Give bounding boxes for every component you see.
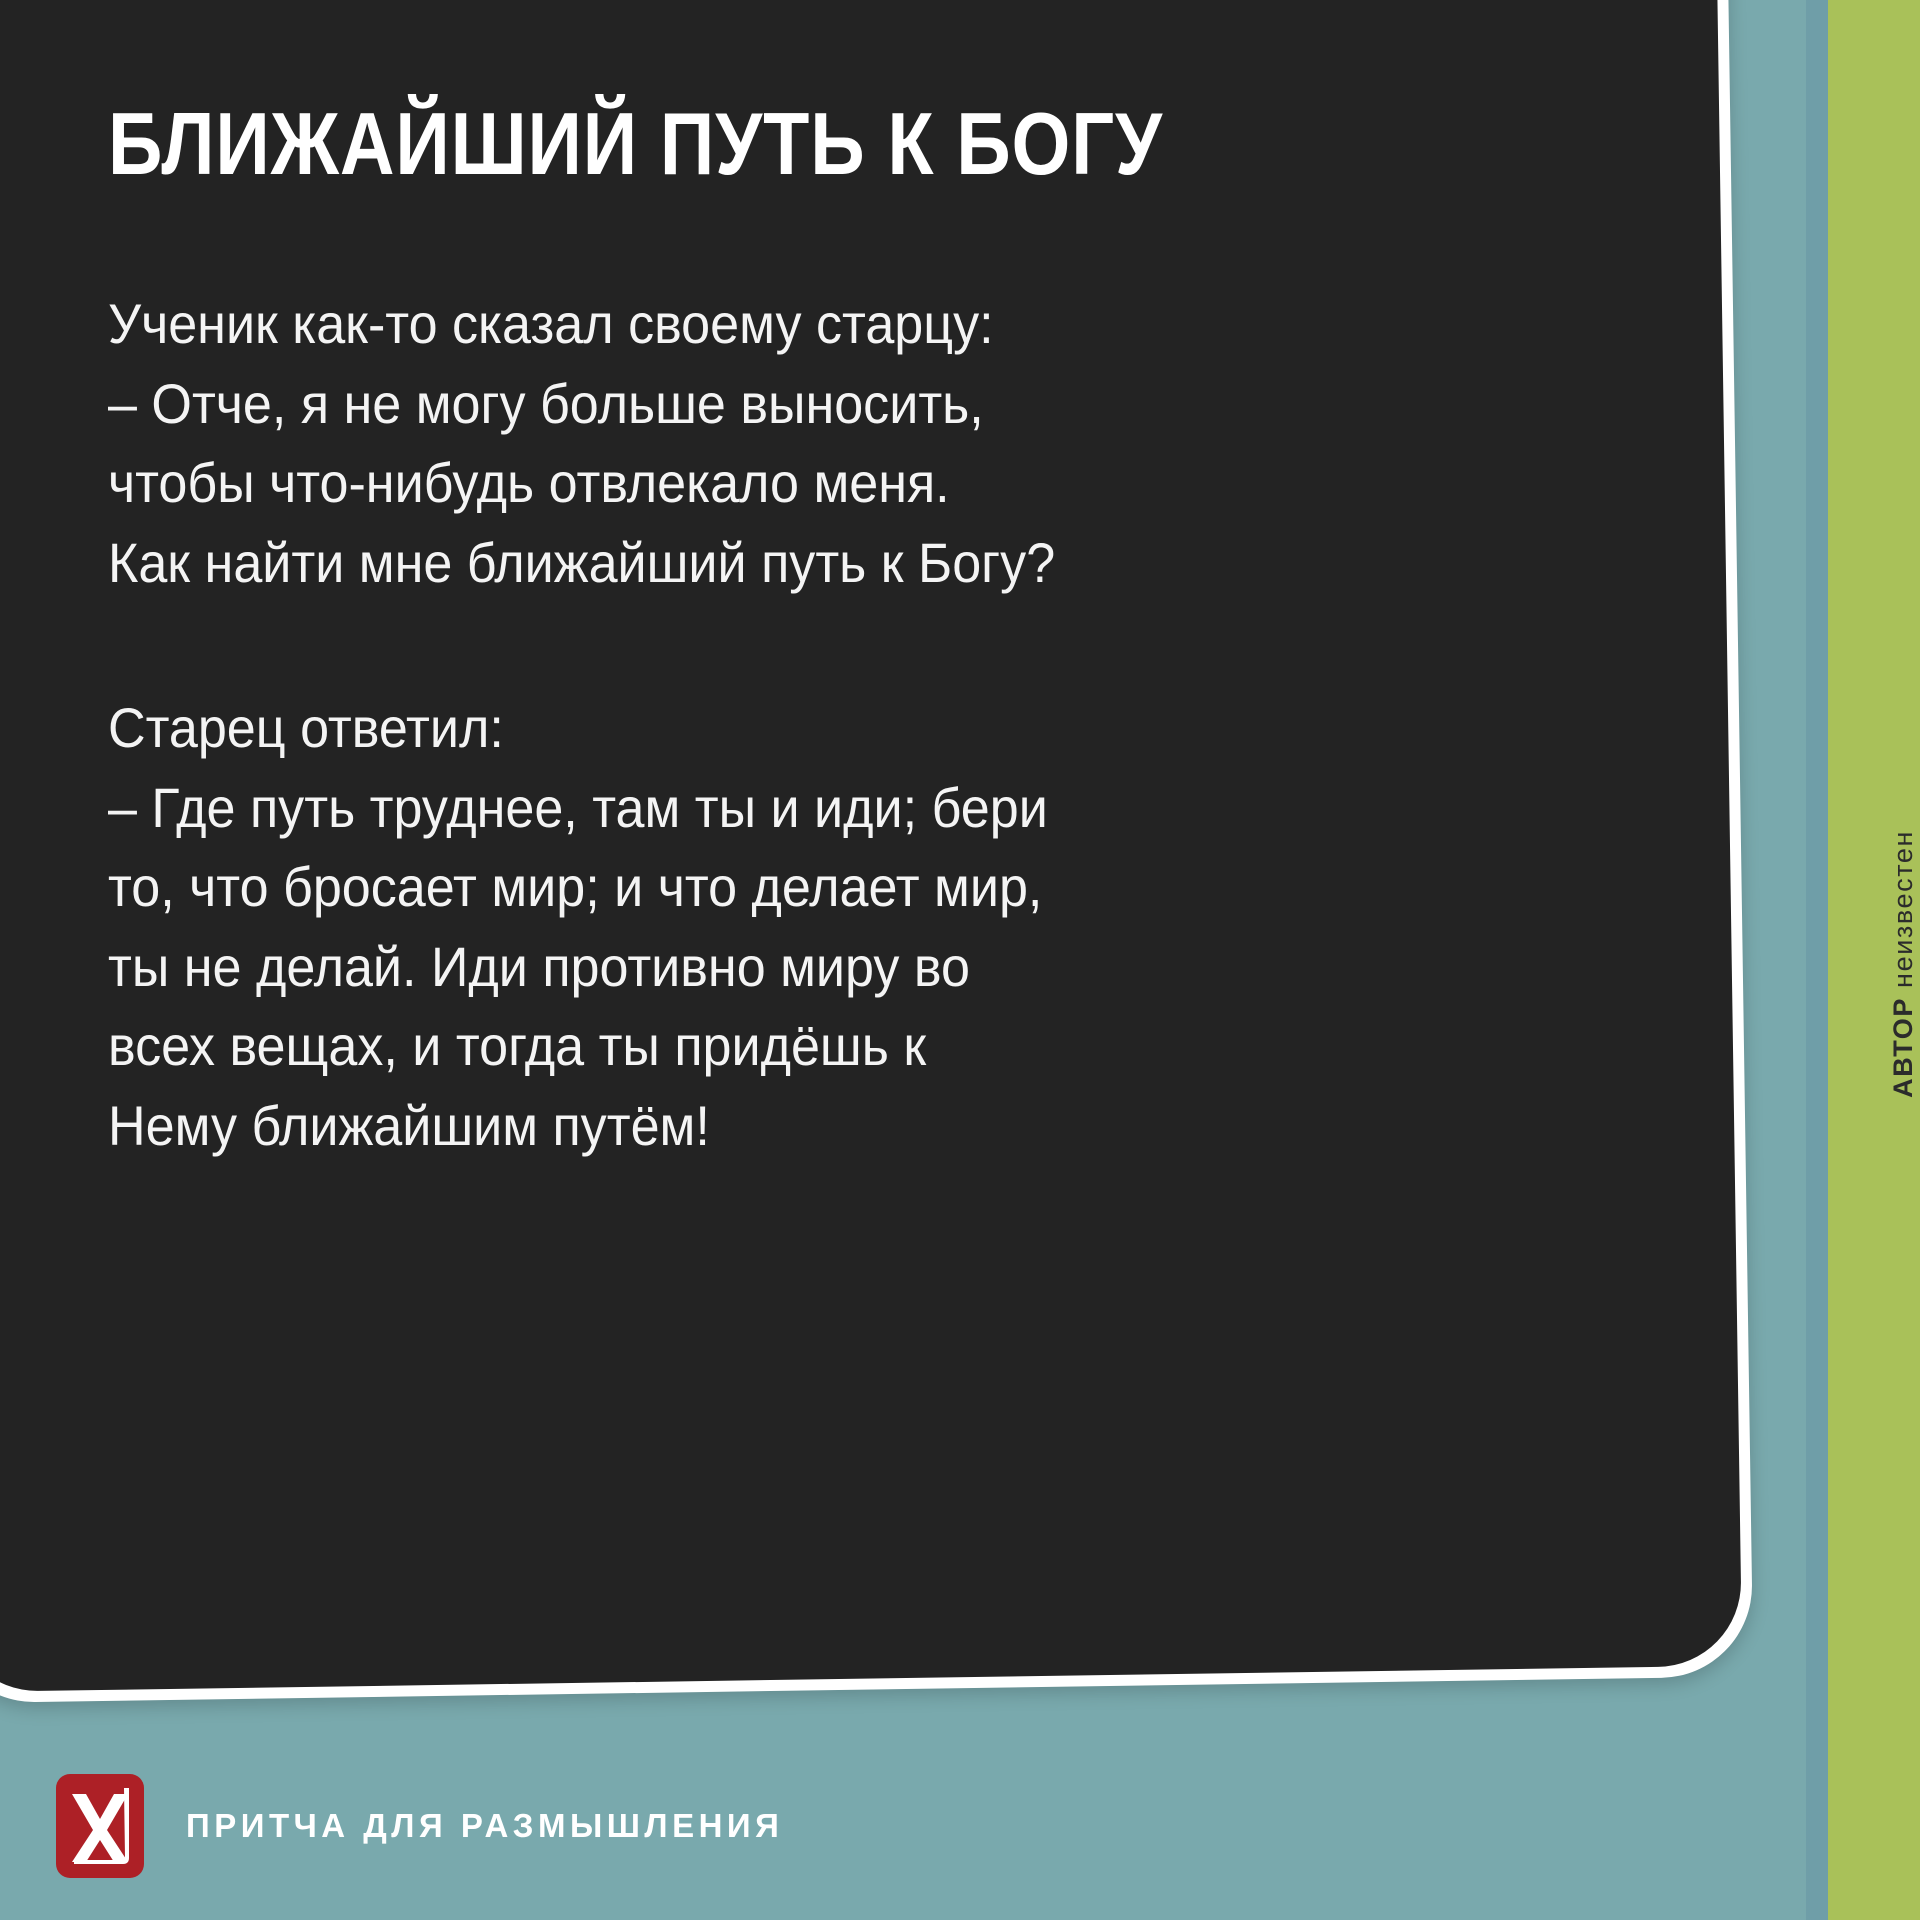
poster-canvas: БЛИЖАЙШИЙ ПУТЬ К БОГУ Ученик как-то сказ…: [0, 0, 1920, 1920]
author-value: неизвестен: [1888, 830, 1918, 988]
footer-bar: ПРИТЧА ДЛЯ РАЗМЫШЛЕНИЯ: [56, 1774, 783, 1878]
parable-line: то, что бросает мир; и что делает мир,: [108, 847, 1317, 927]
parable-line: – Отче, я не могу больше выносить,: [108, 364, 1317, 444]
parable-line: чтобы что-нибудь отвлекало меня.: [108, 443, 1317, 523]
parable-line: Нему ближайшим путём!: [108, 1086, 1317, 1166]
parable-line: – Где путь труднее, там ты и иди; бери: [108, 768, 1317, 848]
parable-line: Ученик как-то сказал своему старцу:: [108, 284, 1317, 364]
parable-line: Старец ответил:: [108, 688, 1317, 768]
parable-paragraph-2: Старец ответил: – Где путь труднее, там …: [108, 688, 1317, 1165]
footer-label: ПРИТЧА ДЛЯ РАЗМЫШЛЕНИЯ: [186, 1807, 783, 1845]
teal-accent-strip: [1806, 0, 1828, 1920]
author-credit: АВТОР неизвестен: [1890, 830, 1917, 1098]
author-label: АВТОР: [1888, 997, 1918, 1098]
logo-glyph: [56, 1774, 144, 1878]
parable-line: Как найти мне ближайший путь к Богу?: [108, 523, 1317, 603]
book-x-logo-icon: [56, 1774, 144, 1878]
paragraph-spacer: [108, 602, 1408, 688]
parable-line: всех вещах, и тогда ты придёшь к: [108, 1006, 1317, 1086]
parable-line: ты не делай. Иди противно миру во: [108, 927, 1317, 1007]
page-title: БЛИЖАЙШИЙ ПУТЬ К БОГУ: [108, 100, 1226, 188]
parable-paragraph-1: Ученик как-то сказал своему старцу: – От…: [108, 284, 1317, 602]
